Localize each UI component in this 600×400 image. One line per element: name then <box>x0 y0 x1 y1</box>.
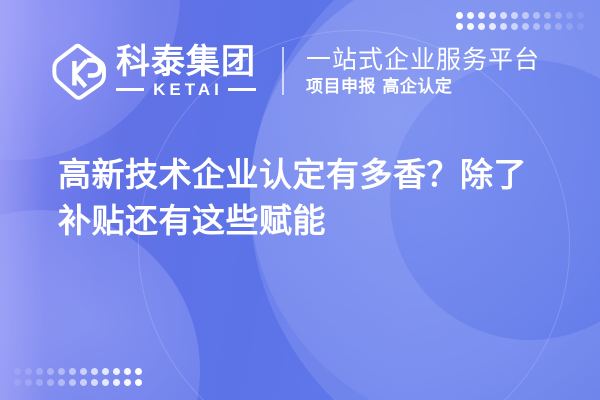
decor-dot <box>478 12 485 19</box>
brand-logo[interactable]: 科泰集团 KETAI <box>52 42 256 100</box>
slogan-secondary: 项目申报 高企认定 <box>306 77 540 97</box>
decor-dot <box>544 12 551 19</box>
decor-dot <box>124 368 131 375</box>
decor-dot <box>577 12 584 19</box>
decor-dot <box>91 368 98 375</box>
banner-header: 科泰集团 KETAI 一站式企业服务平台 项目申报 高企认定 <box>52 34 540 108</box>
decor-dot <box>566 23 573 30</box>
decor-dot <box>511 12 518 19</box>
decor-dot <box>489 12 496 19</box>
decor-dot <box>555 12 562 19</box>
wordmark-rule-left <box>116 88 144 91</box>
decor-dot <box>135 368 142 375</box>
decor-dot <box>25 379 32 386</box>
decor-dot <box>500 12 507 19</box>
brand-name-cn: 科泰集团 <box>116 44 256 80</box>
slogan-block: 一站式企业服务平台 项目申报 高企认定 <box>306 45 540 97</box>
dot-grid-bottom-left <box>14 368 142 386</box>
decor-dot <box>522 12 529 19</box>
brand-name-en-row: KETAI <box>116 81 256 99</box>
decor-dot <box>36 368 43 375</box>
decor-dot <box>69 368 76 375</box>
decor-dot <box>467 23 474 30</box>
decor-dot <box>555 23 562 30</box>
decor-dot <box>456 23 463 30</box>
decor-dot <box>36 379 43 386</box>
decor-dot <box>113 368 120 375</box>
decor-dot <box>577 23 584 30</box>
decor-dot <box>489 23 496 30</box>
brand-name-en: KETAI <box>149 81 223 99</box>
headline-title: 高新技术企业认定有多香？除了补贴还有这些赋能 <box>58 152 558 244</box>
wordmark-rule-right <box>228 88 256 91</box>
decor-dot <box>91 379 98 386</box>
decor-dot <box>80 368 87 375</box>
decor-dot <box>124 379 131 386</box>
decor-dot <box>544 23 551 30</box>
decor-dot <box>80 379 87 386</box>
brand-wordmark: 科泰集团 KETAI <box>116 44 256 99</box>
decor-dot <box>478 23 485 30</box>
decor-dot <box>467 12 474 19</box>
decor-dot <box>113 379 120 386</box>
decor-dot <box>566 12 573 19</box>
decor-dot <box>14 379 21 386</box>
slogan-primary: 一站式企业服务平台 <box>306 45 540 74</box>
decor-dot <box>522 23 529 30</box>
decor-dot <box>500 23 507 30</box>
decor-dot <box>135 379 142 386</box>
decor-dot <box>102 368 109 375</box>
left-light-stripe <box>0 0 46 400</box>
header-divider <box>282 47 284 95</box>
decor-dot <box>533 23 540 30</box>
decor-dot <box>102 379 109 386</box>
decor-dot <box>47 368 54 375</box>
ketai-diamond-kp-monogram-icon <box>52 42 108 100</box>
decor-dot <box>69 379 76 386</box>
decor-dot <box>14 368 21 375</box>
decor-dot <box>456 12 463 19</box>
promo-banner: 科泰集团 KETAI 一站式企业服务平台 项目申报 高企认定 高新技术企业认定有… <box>0 0 600 400</box>
decor-dot <box>58 368 65 375</box>
decor-dot <box>533 12 540 19</box>
decor-dot <box>25 368 32 375</box>
decor-dot <box>511 23 518 30</box>
decor-dot <box>58 379 65 386</box>
dot-grid-top-right <box>456 12 584 30</box>
decor-dot <box>47 379 54 386</box>
